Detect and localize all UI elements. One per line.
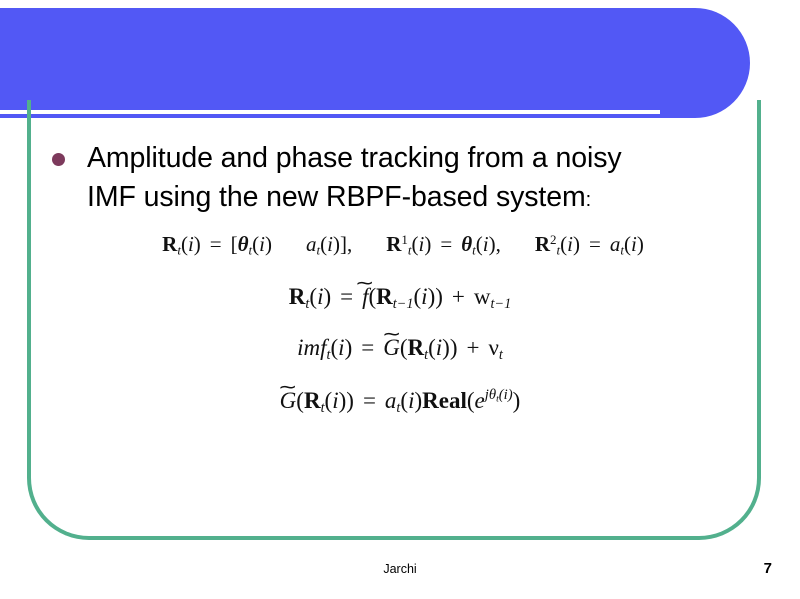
bullet-line-2: IMF using the new RBPF-based system bbox=[87, 181, 586, 213]
equation-2: Rt(i)=∼f(Rt−1(i))+wt−1 bbox=[0, 284, 800, 310]
banner-divider-rule bbox=[0, 110, 660, 114]
eq1-theta: θ bbox=[238, 232, 249, 256]
eq1-R3: R bbox=[535, 232, 550, 256]
eq3-v-sub: t bbox=[499, 347, 503, 363]
eq4-tilde-mark: ∼ bbox=[278, 378, 297, 396]
equation-block: Rt(i)=[θt(i)at(i)],R1t(i)=θt(i),R2t(i)=a… bbox=[0, 232, 800, 414]
eq4-R: R bbox=[304, 388, 321, 413]
eq4-theta-sub: t bbox=[496, 393, 499, 404]
eq3-tilde-mark: ∼ bbox=[382, 325, 401, 343]
eq4-rparen: ) bbox=[513, 388, 521, 413]
eq2-plus: + bbox=[452, 284, 465, 309]
eq3-R: R bbox=[408, 335, 425, 360]
slide: Amplitude and phase tracking from a nois… bbox=[0, 0, 800, 599]
eq2-w: w bbox=[474, 284, 491, 309]
eq3-imf: imf bbox=[297, 335, 326, 360]
eq2-tilde-mark: ∼ bbox=[355, 274, 374, 292]
eq2-equals: = bbox=[340, 284, 353, 309]
eq1-rbracket: ] bbox=[340, 232, 347, 256]
eq4-i3: i bbox=[504, 387, 508, 403]
eq3-v: ν bbox=[488, 335, 498, 360]
eq4-equals: = bbox=[363, 388, 376, 413]
eq3-equals: = bbox=[361, 335, 374, 360]
equation-4: ∼G(Rt(i))=at(i)Real(ejθt(i)) bbox=[0, 388, 800, 414]
eq2-sub-tm1: t−1 bbox=[393, 296, 414, 312]
eq1-equals: = bbox=[210, 232, 222, 256]
equation-3: imft(i)=∼G(Rt(i))+νt bbox=[0, 335, 800, 361]
bullet-dot-icon bbox=[52, 153, 65, 166]
bullet-text: Amplitude and phase tracking from a nois… bbox=[87, 139, 622, 220]
eq1-a2: a bbox=[610, 232, 621, 256]
equation-1: Rt(i)=[θt(i)at(i)],R1t(i)=θt(i),R2t(i)=a… bbox=[6, 232, 800, 257]
eq2-R: R bbox=[289, 284, 306, 309]
eq3-G-tilde: ∼G bbox=[383, 335, 400, 361]
eq4-lparen: ( bbox=[467, 388, 475, 413]
eq1-equals3: = bbox=[589, 232, 601, 256]
eq4-exponent: jθt(i) bbox=[485, 387, 513, 403]
eq1-theta2: θ bbox=[461, 232, 472, 256]
eq1-comma2: , bbox=[496, 232, 501, 256]
eq4-theta: θ bbox=[489, 387, 496, 403]
eq1-equals2: = bbox=[440, 232, 452, 256]
eq1-a: a bbox=[306, 232, 317, 256]
eq4-G-tilde: ∼G bbox=[280, 388, 297, 414]
eq4-real: Real bbox=[422, 388, 467, 413]
eq2-R2: R bbox=[376, 284, 393, 309]
footer-author: Jarchi bbox=[0, 562, 800, 576]
eq2-w-sub: t−1 bbox=[491, 296, 512, 312]
eq1-R2: R bbox=[386, 232, 401, 256]
eq1-comma: , bbox=[347, 232, 352, 256]
bullet-trailing-colon: : bbox=[586, 189, 591, 211]
eq3-plus: + bbox=[467, 335, 480, 360]
bullet-item: Amplitude and phase tracking from a nois… bbox=[52, 139, 712, 220]
eq2-f-tilde: ∼f bbox=[362, 284, 368, 310]
bullet-line-1: Amplitude and phase tracking from a nois… bbox=[87, 142, 622, 174]
title-banner bbox=[0, 8, 750, 118]
page-number: 7 bbox=[764, 560, 772, 577]
body-text-block: Amplitude and phase tracking from a nois… bbox=[52, 139, 712, 220]
eq1-R: R bbox=[162, 232, 177, 256]
eq1-lbracket: [ bbox=[231, 232, 238, 256]
eq4-e: e bbox=[475, 388, 485, 413]
eq4-a: a bbox=[385, 388, 397, 413]
